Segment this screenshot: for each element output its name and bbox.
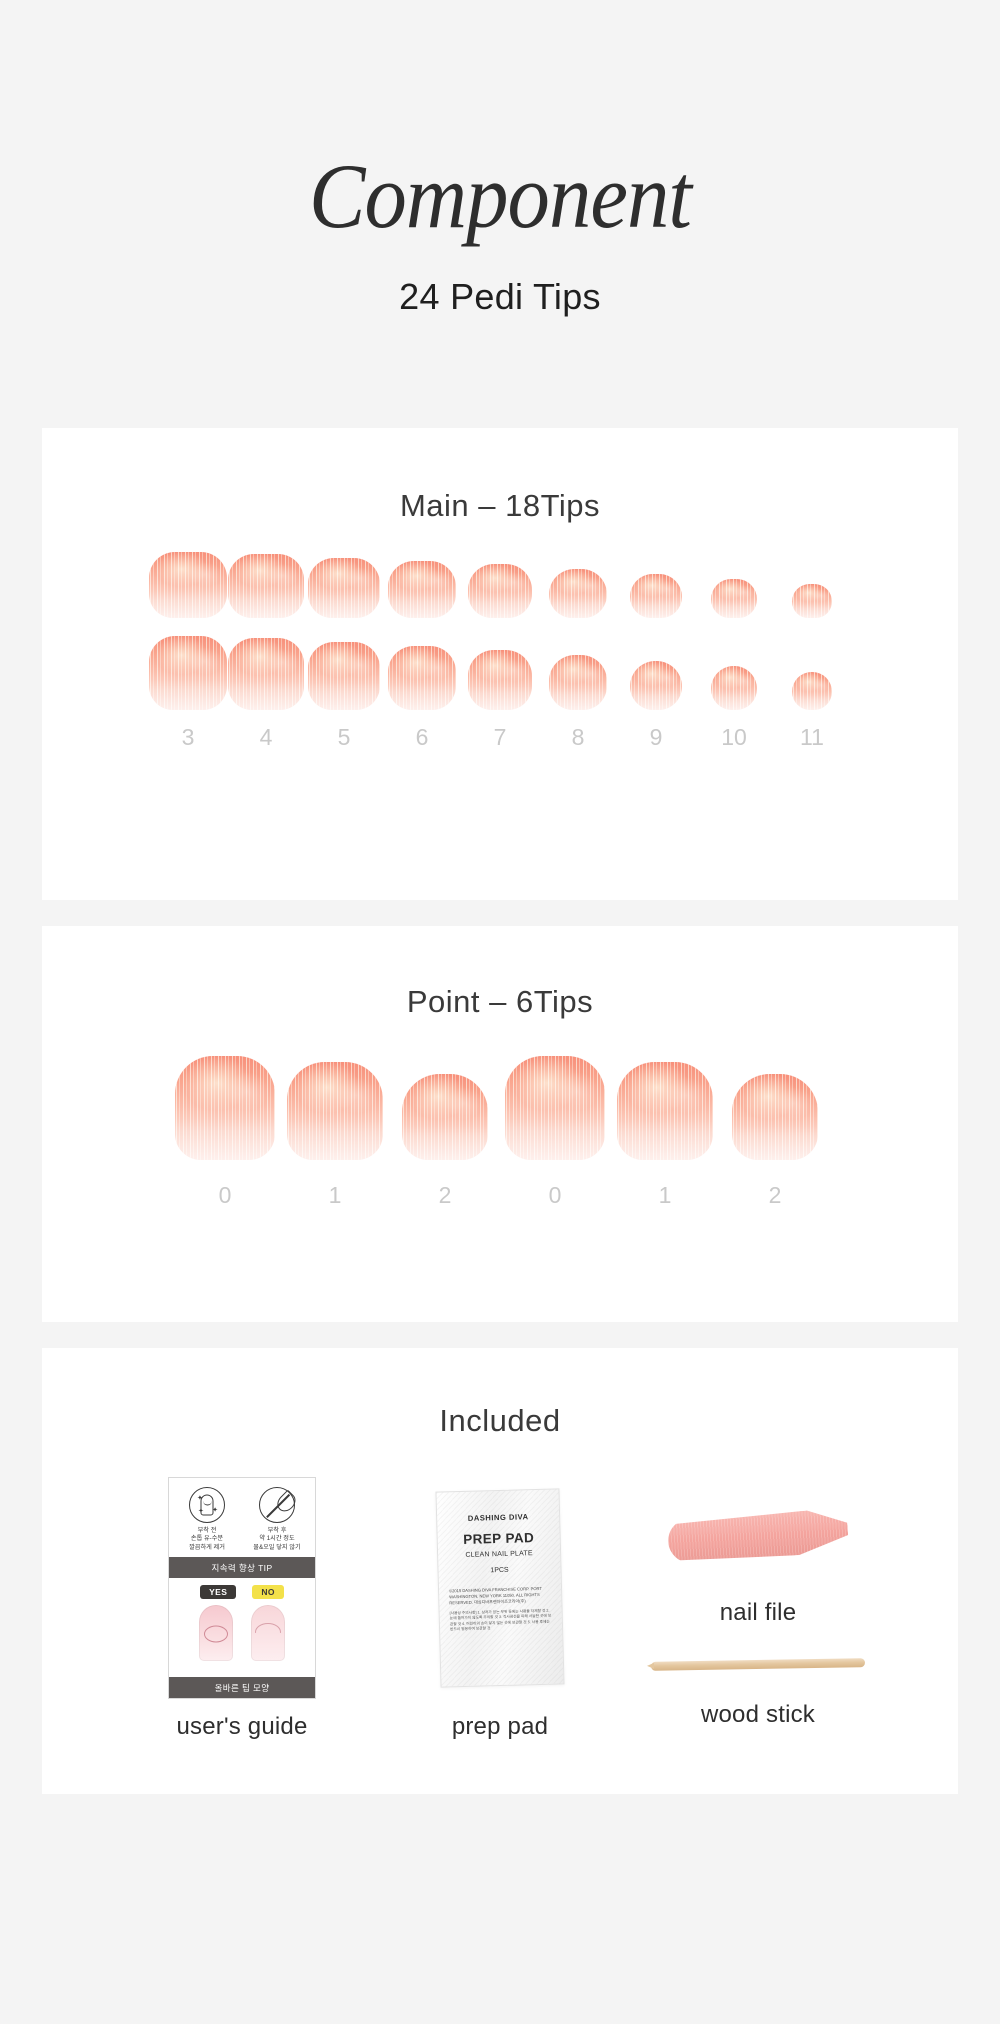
nail-tip-cell: [305, 558, 383, 618]
nail-tip: [308, 558, 380, 618]
size-number: 11: [773, 724, 851, 751]
included-label-users-guide: user's guide: [176, 1713, 307, 1741]
wood-stick-art: [629, 1627, 887, 1701]
users-guide-art: ✦ ✦ ✦ 부착 전 손톱 유-수분 깔끔하게 제거: [113, 1473, 371, 1703]
nail-tip: [792, 672, 832, 710]
nail-tip-cell: [390, 1074, 500, 1160]
nail-tip-cell: [305, 642, 383, 710]
nail-tip: [388, 561, 456, 618]
nail-tip: [468, 650, 532, 710]
sachet-subtitle: CLEAN NAIL PLATE: [448, 1550, 550, 1560]
prep-pad-art: DASHING DIVA PREP PAD CLEAN NAIL PLATE 1…: [371, 1473, 629, 1703]
guide-bar-top: 지속력 향상 TIP: [169, 1557, 315, 1578]
nail-tip-cell: [280, 1062, 390, 1160]
sachet-name: PREP PAD: [448, 1530, 550, 1548]
nail-tip: [732, 1074, 818, 1160]
size-number: 5: [305, 724, 383, 751]
nail-tip-cell: [610, 1062, 720, 1160]
nail-tip: [549, 569, 607, 618]
size-number: 4: [227, 724, 305, 751]
nail-file-art: [629, 1473, 887, 1599]
page-header: Component 24 Pedi Tips: [0, 0, 1000, 318]
sachet-brand: DASHING DIVA: [447, 1512, 549, 1524]
nail-tip: [792, 584, 832, 618]
sparkle-icon: ✦: [198, 1508, 204, 1515]
included-item-users-guide: ✦ ✦ ✦ 부착 전 손톱 유-수분 깔끔하게 제거: [113, 1473, 371, 1741]
nail-tip-cell: [617, 661, 695, 710]
main-tips-row-1: [42, 552, 958, 618]
nail-tip: [617, 1062, 713, 1160]
nail-tip: [149, 636, 227, 710]
nail-tip: [388, 646, 456, 710]
included-label-prep-pad: prep pad: [452, 1713, 548, 1741]
size-number: 0: [500, 1182, 610, 1209]
sparkle-icon: ✦: [197, 1495, 203, 1502]
main-size-numbers: 34567891011: [42, 724, 958, 751]
guide-badges: YES NO: [169, 1578, 315, 1599]
included-items-row: ✦ ✦ ✦ 부착 전 손톱 유-수분 깔끔하게 제거: [42, 1473, 958, 1741]
guide-step-2: 부착 후 약 1시간 정도 물&오일 닿지 않기: [243, 1487, 311, 1552]
nail-tip-cell: [461, 564, 539, 618]
no-water-icon: [259, 1487, 295, 1523]
nail-tip-cell: [227, 638, 305, 710]
correct-tip-shape-icon: [199, 1605, 233, 1661]
included-item-prep-pad: DASHING DIVA PREP PAD CLEAN NAIL PLATE 1…: [371, 1473, 629, 1741]
wood-stick-icon: [651, 1658, 865, 1671]
sachet-quantity: 1PCS: [448, 1566, 550, 1576]
section-card-point: Point – 6Tips 012012: [42, 926, 958, 1322]
section-card-main: Main – 18Tips 34567891011: [42, 428, 958, 900]
nail-prep-icon: ✦ ✦ ✦: [189, 1487, 225, 1523]
nail-tip: [468, 564, 532, 618]
guide-step-2-line3: 물&오일 닿지 않기: [243, 1544, 311, 1552]
nail-tip: [228, 554, 304, 618]
main-tips-row-2: [42, 636, 958, 710]
nail-tip: [308, 642, 380, 710]
size-number: 7: [461, 724, 539, 751]
nail-tip-cell: [149, 636, 227, 710]
nail-tip-cell: [227, 554, 305, 618]
nail-tip: [228, 638, 304, 710]
section-title-point: Point – 6Tips: [42, 926, 958, 1020]
point-tips-row: [42, 1056, 958, 1160]
guide-steps: ✦ ✦ ✦ 부착 전 손톱 유-수분 깔끔하게 제거: [169, 1478, 315, 1557]
included-label-wood-stick: wood stick: [701, 1701, 815, 1729]
nail-tip-cell: [695, 579, 773, 618]
nail-tip-cell: [695, 666, 773, 710]
nail-tip: [175, 1056, 275, 1160]
nail-tip: [505, 1056, 605, 1160]
guide-step-1-line3: 깔끔하게 제거: [173, 1544, 241, 1552]
nail-tip-cell: [539, 655, 617, 710]
nail-tip-cell: [773, 672, 851, 710]
incorrect-tip-shape-icon: [251, 1605, 285, 1661]
sparkle-icon: ✦: [212, 1507, 218, 1514]
nail-tip: [287, 1062, 383, 1160]
nail-tip-cell: [383, 561, 461, 618]
nail-tip-cell: [383, 646, 461, 710]
nail-tip-cell: [617, 574, 695, 618]
nail-tip: [149, 552, 227, 618]
guide-bar-bottom: 올바른 팁 모양: [169, 1677, 315, 1698]
section-title-main: Main – 18Tips: [42, 428, 958, 524]
size-number: 2: [390, 1182, 500, 1209]
nail-tip: [549, 655, 607, 710]
page-title: Component: [40, 150, 960, 242]
nail-tip-cell: [149, 552, 227, 618]
size-number: 0: [170, 1182, 280, 1209]
badge-no: NO: [252, 1585, 284, 1599]
section-card-included: Included ✦ ✦ ✦: [42, 1348, 958, 1794]
nail-tip-cell: [500, 1056, 610, 1160]
nail-tip-cell: [720, 1074, 830, 1160]
nail-tip: [630, 661, 682, 710]
point-size-numbers: 012012: [42, 1182, 958, 1209]
size-number: 1: [610, 1182, 720, 1209]
nail-tip-cell: [539, 569, 617, 618]
nail-file-icon: [667, 1508, 850, 1564]
sachet-caution: [사용상 주의사항] 1. 상처가 있는 부위 등에는 사용을 자제할 것 2.…: [450, 1608, 553, 1633]
size-number: 8: [539, 724, 617, 751]
guide-step-1: ✦ ✦ ✦ 부착 전 손톱 유-수분 깔끔하게 제거: [173, 1487, 241, 1552]
guide-step-1-line2: 손톱 유-수분: [173, 1535, 241, 1543]
guide-step-1-title: 부착 전: [173, 1527, 241, 1535]
water-drop-icon: [274, 1490, 299, 1515]
size-number: 9: [617, 724, 695, 751]
size-number: 2: [720, 1182, 830, 1209]
badge-yes: YES: [200, 1585, 236, 1599]
nail-tip-cell: [773, 584, 851, 618]
product-component-page: Component 24 Pedi Tips Main – 18Tips 345…: [0, 0, 1000, 2024]
guide-step-2-line2: 약 1시간 정도: [243, 1535, 311, 1543]
included-item-file-stick: nail file wood stick: [629, 1473, 887, 1729]
guide-card-icon: ✦ ✦ ✦ 부착 전 손톱 유-수분 깔끔하게 제거: [168, 1477, 316, 1699]
size-number: 1: [280, 1182, 390, 1209]
size-number: 6: [383, 724, 461, 751]
section-title-included: Included: [42, 1348, 958, 1439]
page-subtitle: 24 Pedi Tips: [0, 276, 1000, 318]
size-number: 10: [695, 724, 773, 751]
sachet-copyright: ©2015 DASHING DIVA FRANCHISE CORP. PORT …: [449, 1586, 551, 1606]
size-number: 3: [149, 724, 227, 751]
guide-nail-examples: [169, 1599, 315, 1677]
nail-tip: [630, 574, 682, 618]
nail-tip: [402, 1074, 488, 1160]
nail-tip: [711, 666, 757, 710]
included-label-nail-file: nail file: [720, 1599, 797, 1627]
nail-tip-cell: [170, 1056, 280, 1160]
sachet-icon: DASHING DIVA PREP PAD CLEAN NAIL PLATE 1…: [435, 1488, 564, 1687]
nail-tip-cell: [461, 650, 539, 710]
nail-tip: [711, 579, 757, 618]
